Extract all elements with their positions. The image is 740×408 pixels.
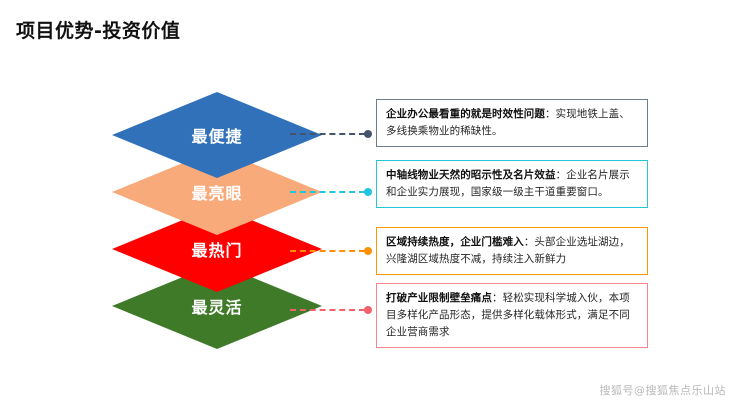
- dashed-line: [290, 133, 365, 135]
- connector-dot-icon: [364, 247, 372, 255]
- callout-separator: ：: [556, 169, 567, 181]
- callout-separator: ：: [545, 108, 556, 120]
- connector-line-3: [290, 245, 372, 257]
- connector-dot-icon: [364, 188, 372, 196]
- callout-box-3: 区域持续热度，企业门槛难入：头部企业选址湖边，兴隆湖区域热度不减，持续注入新鲜力: [376, 227, 648, 275]
- dashed-line: [290, 250, 365, 252]
- callout-box-2: 中轴线物业天然的昭示性及名片效益：企业名片展示和企业实力展现，国家级一级主干道重…: [376, 160, 648, 208]
- page-title: 项目优势-投资价值: [16, 16, 180, 43]
- callout-heading: 企业办公最看重的就是时效性问题: [386, 108, 545, 120]
- connector-line-4: [290, 304, 372, 316]
- connector-dot-icon: [364, 130, 372, 138]
- connector-dot-icon: [364, 306, 372, 314]
- callout-heading: 区域持续热度，企业门槛难入: [386, 236, 524, 248]
- connector-line-2: [290, 186, 372, 198]
- callout-box-1: 企业办公最看重的就是时效性问题：实现地铁上盖、多线换乘物业的稀缺性。: [376, 99, 648, 147]
- callout-heading: 中轴线物业天然的昭示性及名片效益: [386, 169, 556, 181]
- callout-separator: ：: [492, 292, 503, 304]
- watermark: 搜狐号@搜狐焦点乐山站: [600, 382, 727, 398]
- callout-separator: ：: [524, 236, 535, 248]
- callout-heading: 打破产业限制壁垒痛点: [386, 292, 492, 304]
- callout-box-4: 打破产业限制壁垒痛点：轻松实现科学城入伙，本项目多样化产品形态，提供多样化载体形…: [376, 283, 648, 348]
- dashed-line: [290, 191, 365, 193]
- dashed-line: [290, 309, 365, 311]
- connector-line-1: [290, 128, 372, 140]
